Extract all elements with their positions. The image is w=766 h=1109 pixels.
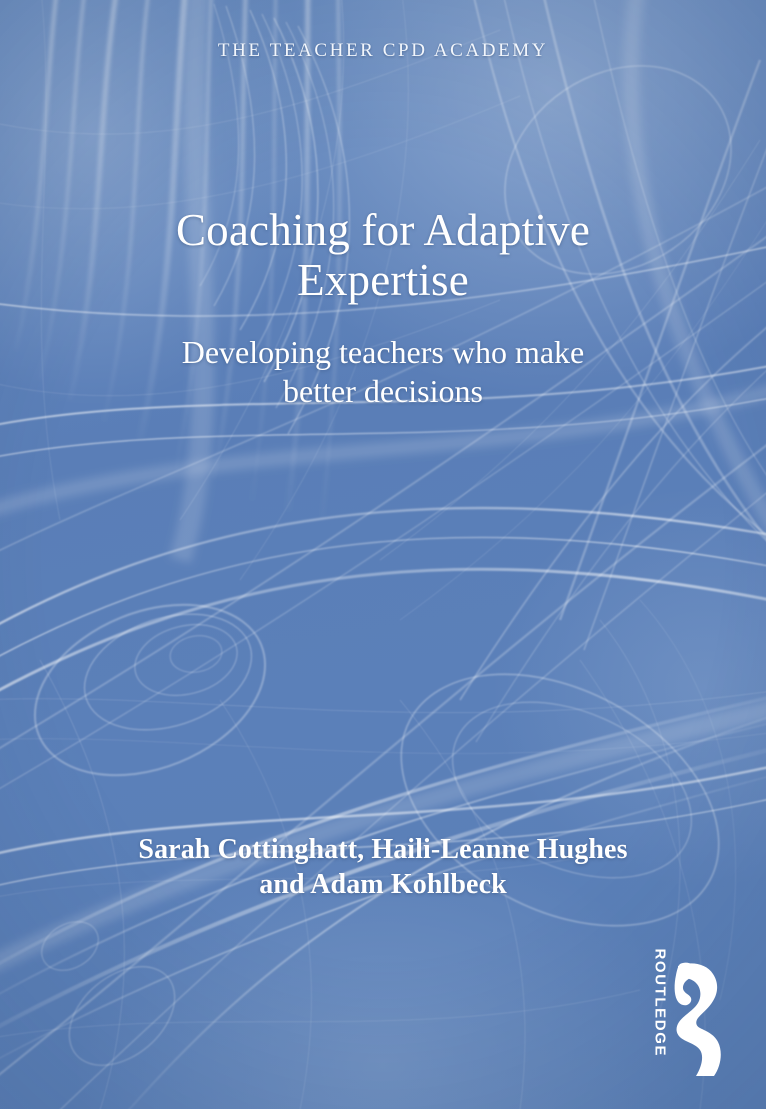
book-subtitle: Developing teachers who make better deci… xyxy=(0,333,766,411)
cover-vignette xyxy=(0,0,766,1109)
page-title: Coaching for Adaptive Expertise xyxy=(0,206,766,305)
routledge-face-r-icon xyxy=(668,960,724,1078)
book-subtitle-line-2: better decisions xyxy=(0,372,766,411)
cover-thread-texture xyxy=(0,0,766,1109)
routledge-wordmark: ROUTLEDGE xyxy=(652,949,669,1053)
author-names: Sarah Cottinghatt, Haili-Leanne Hughes a… xyxy=(0,832,766,903)
book-cover: THE TEACHER CPD ACADEMY Coaching for Ada… xyxy=(0,0,766,1109)
book-subtitle-line-1: Developing teachers who make xyxy=(0,333,766,372)
authors-line-1: Sarah Cottinghatt, Haili-Leanne Hughes xyxy=(0,832,766,867)
series-title: THE TEACHER CPD ACADEMY xyxy=(0,40,766,62)
book-title-line-1: Coaching for Adaptive xyxy=(0,206,766,256)
publisher-logo: ROUTLEDGE xyxy=(636,952,736,1082)
book-title-line-2: Expertise xyxy=(0,256,766,306)
cover-thread-texture-detail xyxy=(0,0,766,1109)
cover-background-gradient xyxy=(0,0,766,1109)
authors-line-2: and Adam Kohlbeck xyxy=(0,867,766,902)
